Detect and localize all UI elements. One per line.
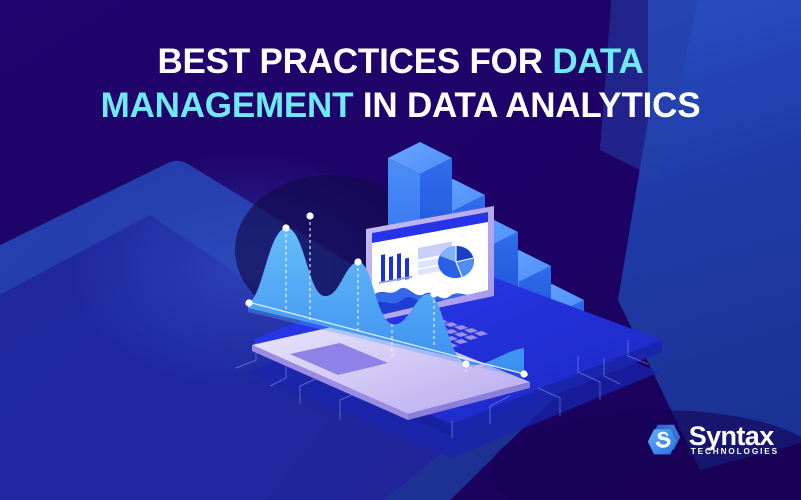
brand-logo[interactable]: Syntax TECHNOLOGIES bbox=[646, 422, 779, 458]
logo-subtitle: TECHNOLOGIES bbox=[691, 448, 779, 456]
hexagon-s-icon bbox=[646, 422, 682, 458]
logo-text-group: Syntax TECHNOLOGIES bbox=[689, 423, 779, 456]
banner-canvas: BEST PRACTICES FOR DATA MANAGEMENT IN DA… bbox=[0, 0, 801, 500]
logo-wordmark: Syntax bbox=[689, 423, 774, 450]
